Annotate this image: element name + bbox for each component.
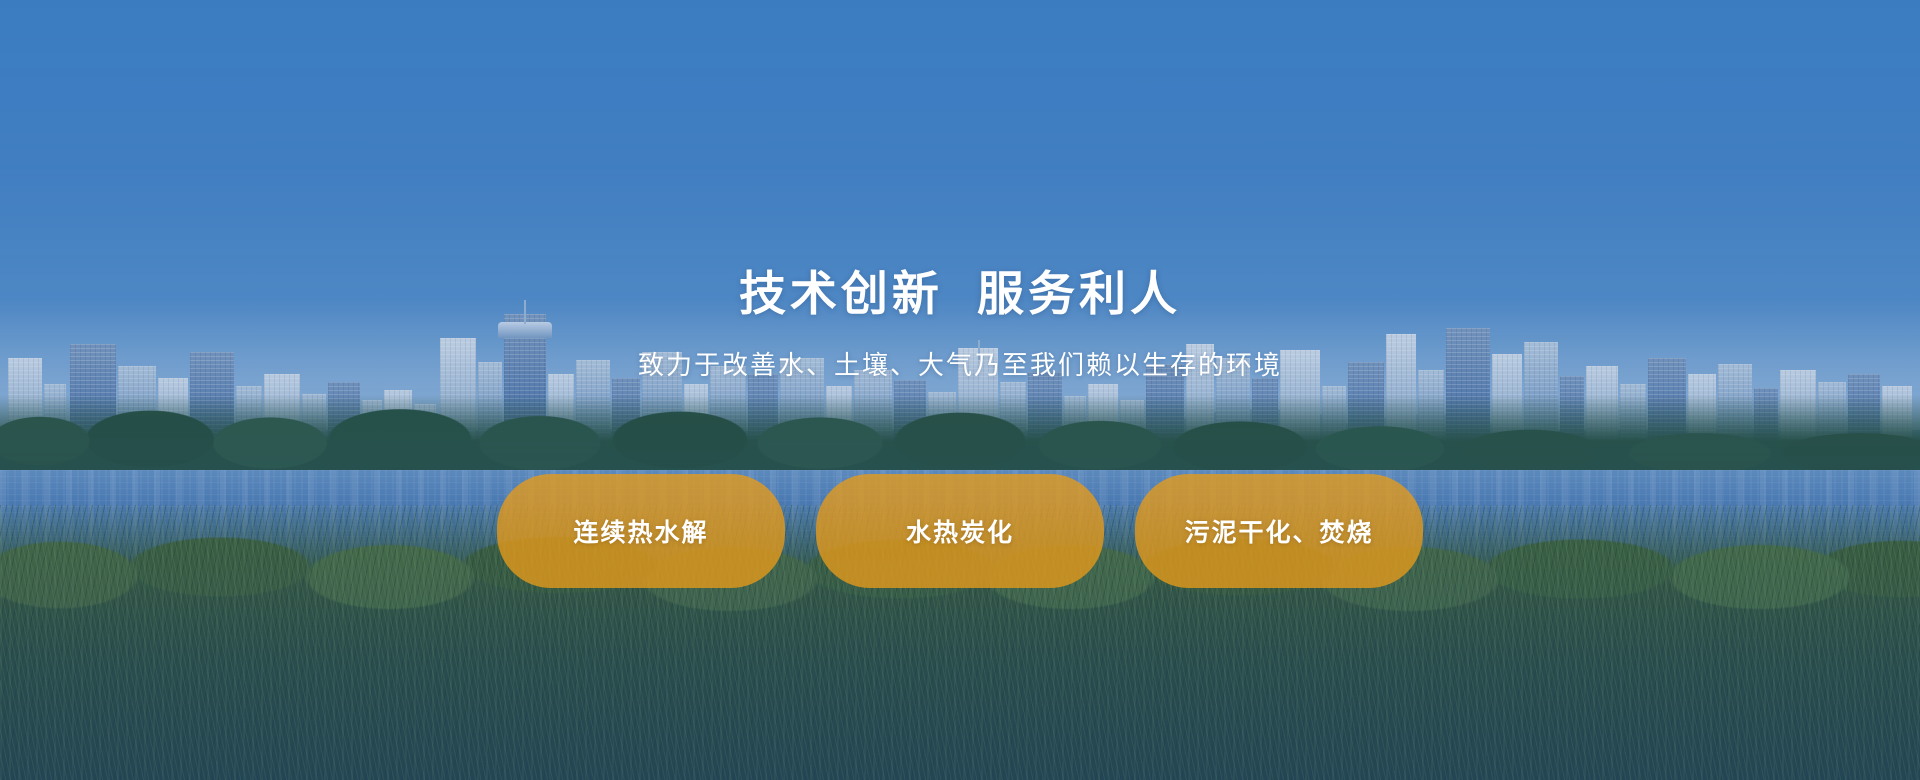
hero-subtitle: 致力于改善水、土壤、大气乃至我们赖以生存的环境 bbox=[0, 350, 1920, 381]
hero-content: 技术创新 服务利人 致力于改善水、土壤、大气乃至我们赖以生存的环境 连续热水解 … bbox=[0, 0, 1920, 780]
hero-button-row: 连续热水解 水热炭化 污泥干化、焚烧 bbox=[0, 474, 1920, 588]
hero-button-continuous-thermal-hydrolysis[interactable]: 连续热水解 bbox=[497, 474, 785, 588]
hero-title: 技术创新 服务利人 bbox=[0, 268, 1920, 320]
hero-button-hydrothermal-carbonization[interactable]: 水热炭化 bbox=[816, 474, 1104, 588]
hero-banner: 技术创新 服务利人 致力于改善水、土壤、大气乃至我们赖以生存的环境 连续热水解 … bbox=[0, 0, 1920, 780]
hero-button-sludge-drying-incineration[interactable]: 污泥干化、焚烧 bbox=[1135, 474, 1423, 588]
